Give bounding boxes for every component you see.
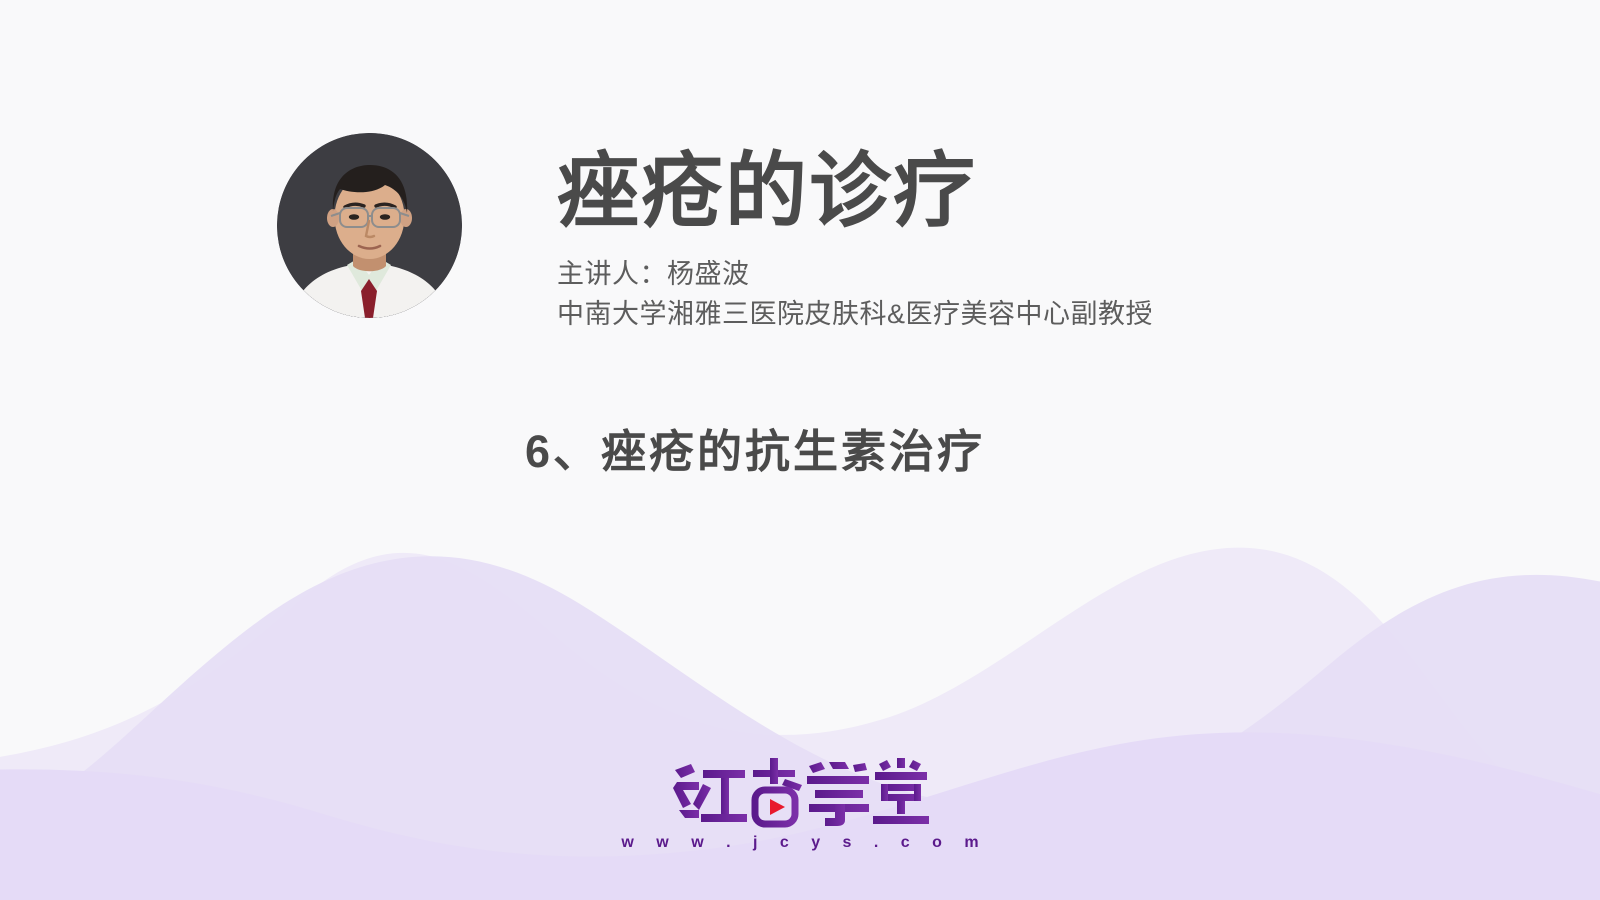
page-title: 痤疮的诊疗: [557, 151, 1153, 233]
speaker-text-block: 痤疮的诊疗 主讲人：杨盛波 中南大学湘雅三医院皮肤科&医疗美容中心副教授: [557, 133, 1153, 335]
brand-block: w w w . j c y s . c o m: [0, 752, 1600, 852]
slide-canvas: 痤疮的诊疗 主讲人：杨盛波 中南大学湘雅三医院皮肤科&医疗美容中心副教授 6、痤…: [0, 0, 1600, 900]
play-triangle-icon: [770, 799, 785, 815]
brand-logo: [669, 752, 931, 832]
speaker-avatar: [277, 133, 462, 318]
avatar-portrait-illustration: [277, 133, 462, 318]
section-heading: 6、痤疮的抗生素治疗: [0, 425, 1510, 479]
logo-char-hong: [673, 764, 747, 822]
speaker-affiliation: 中南大学湘雅三医院皮肤科&医疗美容中心副教授: [557, 295, 1153, 335]
logo-char-xue: [807, 762, 869, 826]
logo-char-tang: [873, 758, 929, 824]
brand-url: w w w . j c y s . c o m: [0, 834, 1600, 852]
speaker-name: 主讲人：杨盛波: [557, 255, 1153, 295]
logo-char-xing: [753, 758, 802, 824]
speaker-block: 痤疮的诊疗 主讲人：杨盛波 中南大学湘雅三医院皮肤科&医疗美容中心副教授: [277, 133, 1153, 335]
